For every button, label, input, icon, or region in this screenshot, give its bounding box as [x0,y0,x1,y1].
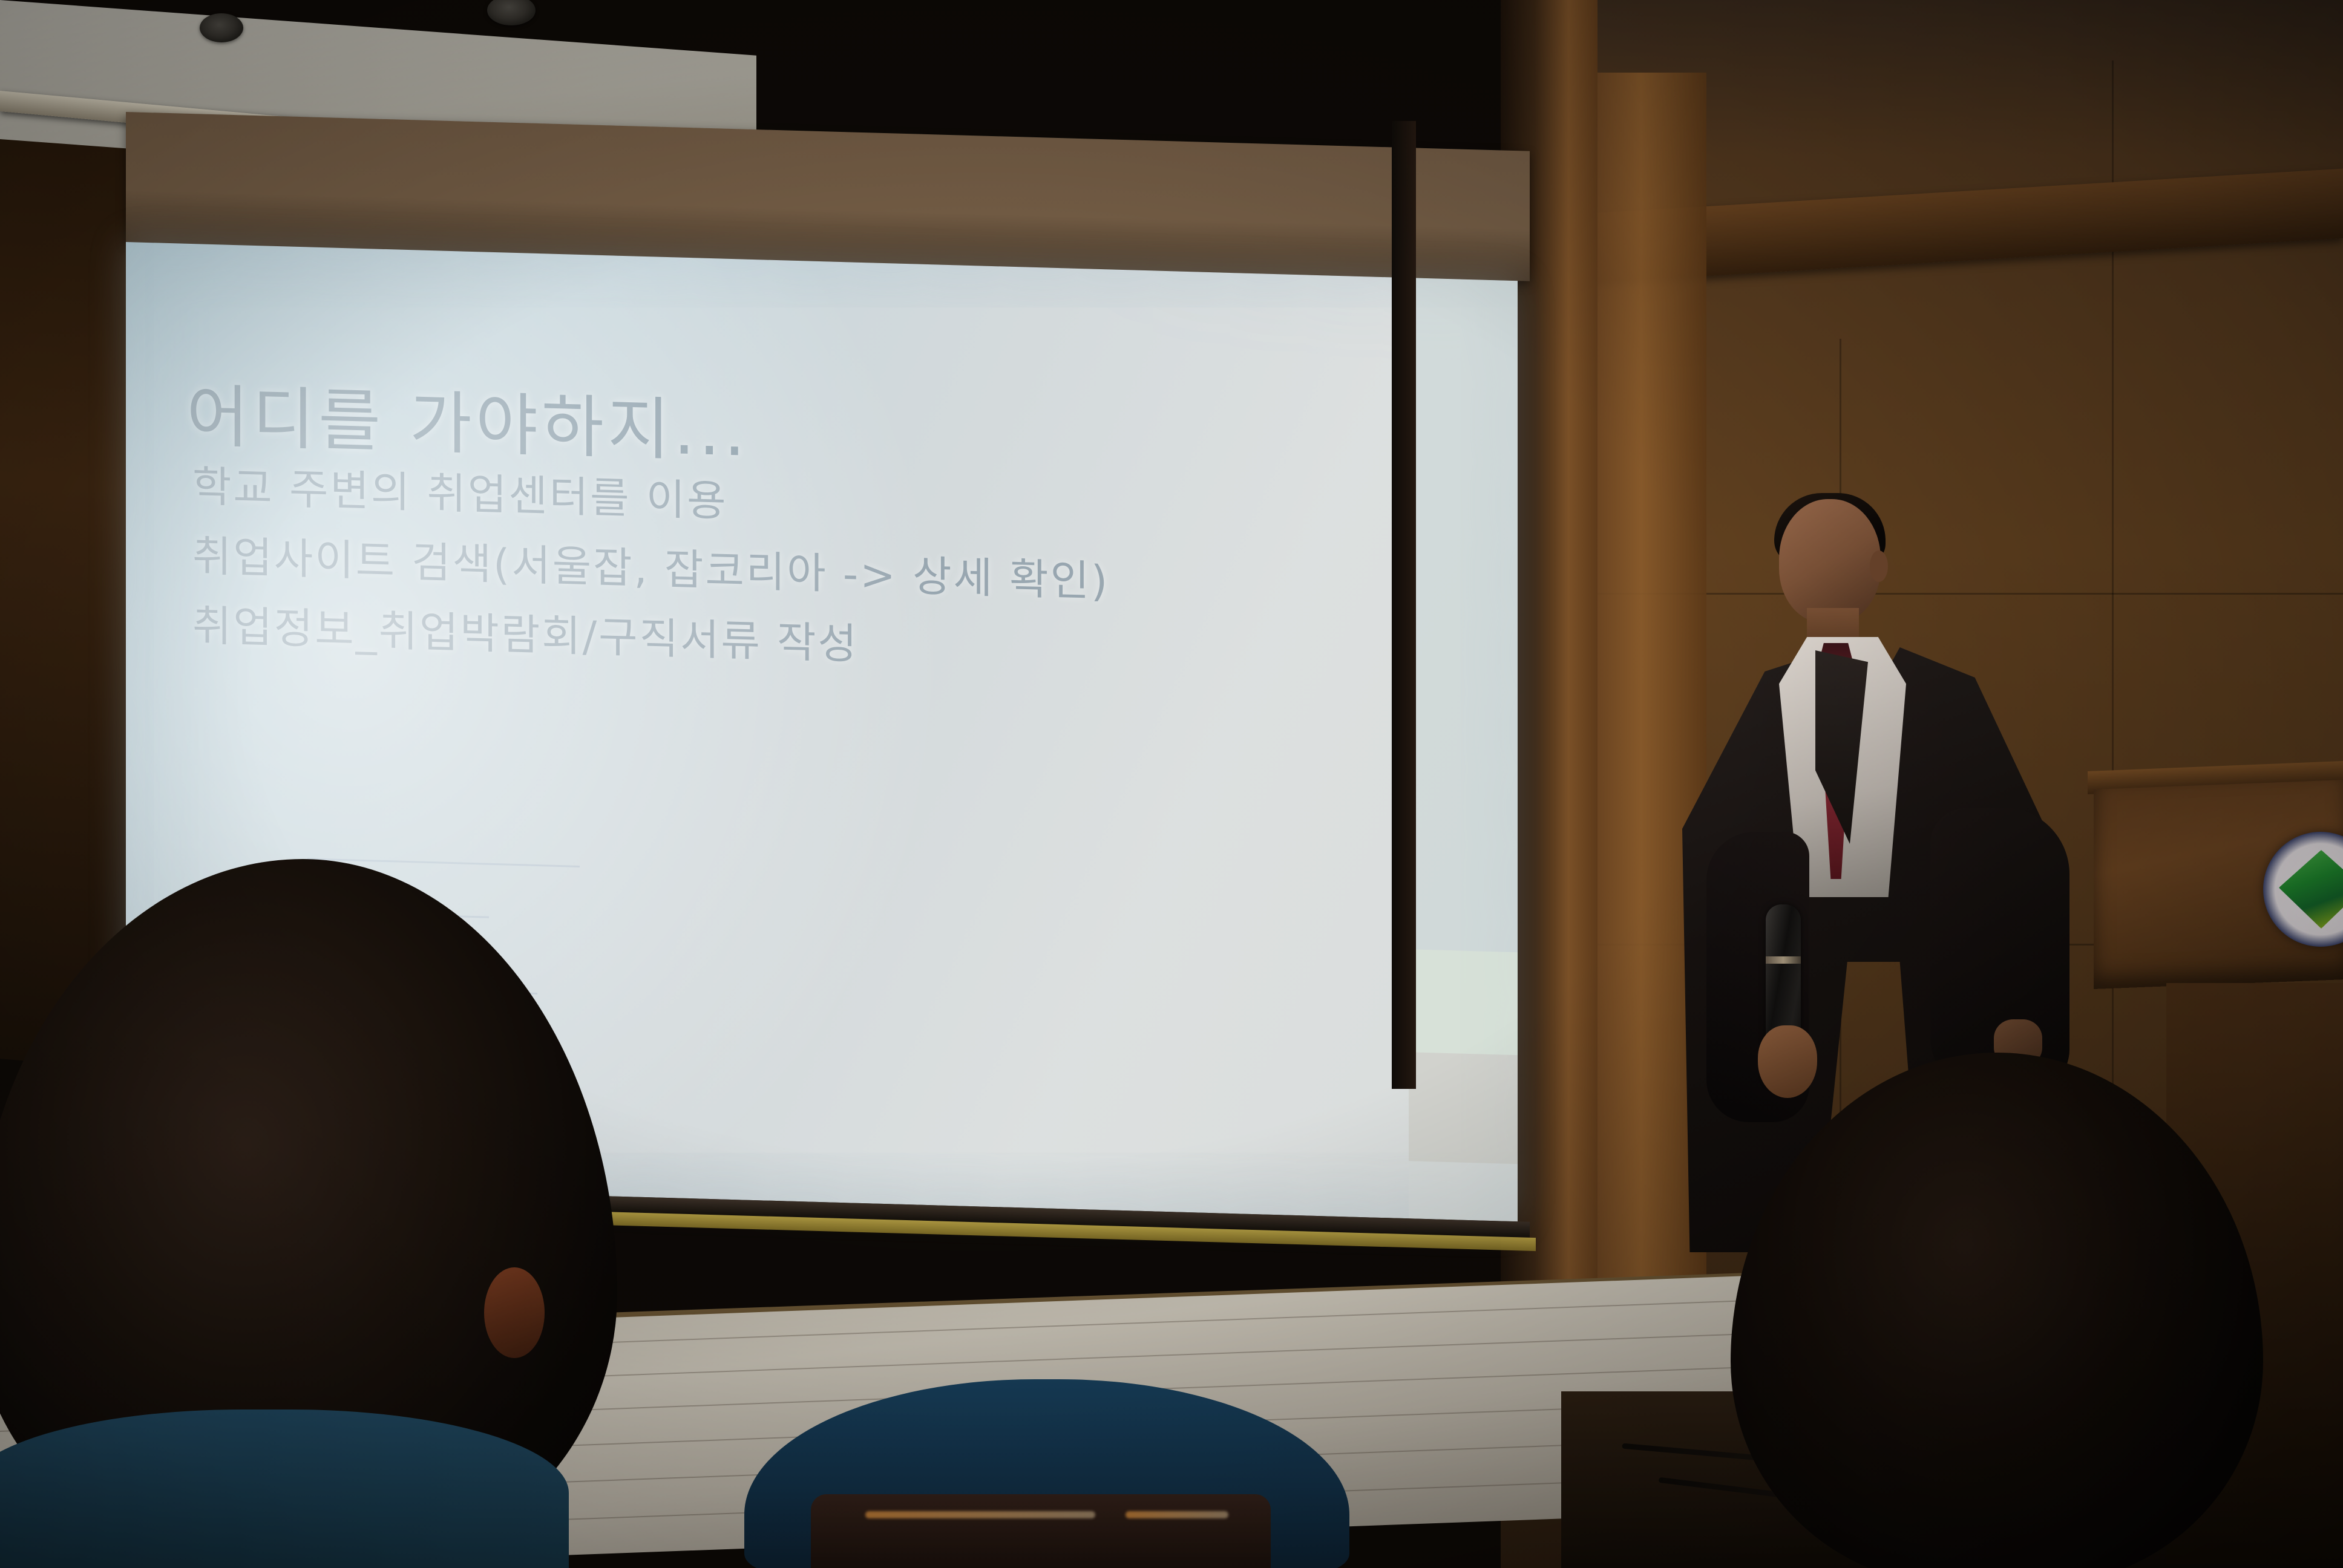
downlight-icon [487,0,536,25]
chair-highlight [1126,1511,1228,1518]
auditorium-chair-seat [811,1494,1271,1568]
downlight-icon [200,13,243,42]
slide-body-line-3: 취업정보_취업박람회/구직서류 작성 [192,592,859,671]
presenter-ear [1870,550,1888,582]
screen-right-edge-shadow [1392,121,1416,1089]
audience-head-left-ear [484,1267,545,1358]
audience-shoulder-left [0,1410,569,1568]
presenter-head [1779,499,1881,623]
microphone-ring [1766,956,1801,964]
left-dark-wall [0,91,145,1071]
slide-band-gray [1409,278,1518,952]
chair-highlight [865,1511,1095,1518]
emblem-leaf-shape [2279,850,2343,929]
slide-band-beige [1409,1052,1518,1164]
slide-band-green [1409,949,1518,1055]
presenter-hand-holding-mic [1758,1025,1817,1098]
presentation-photo-scene: 어디를 가야하지... 학교 주변의 취업센터를 이용 취업사이트 검색(서울잡… [0,0,2343,1568]
slide-band-light [1409,1161,1518,1221]
